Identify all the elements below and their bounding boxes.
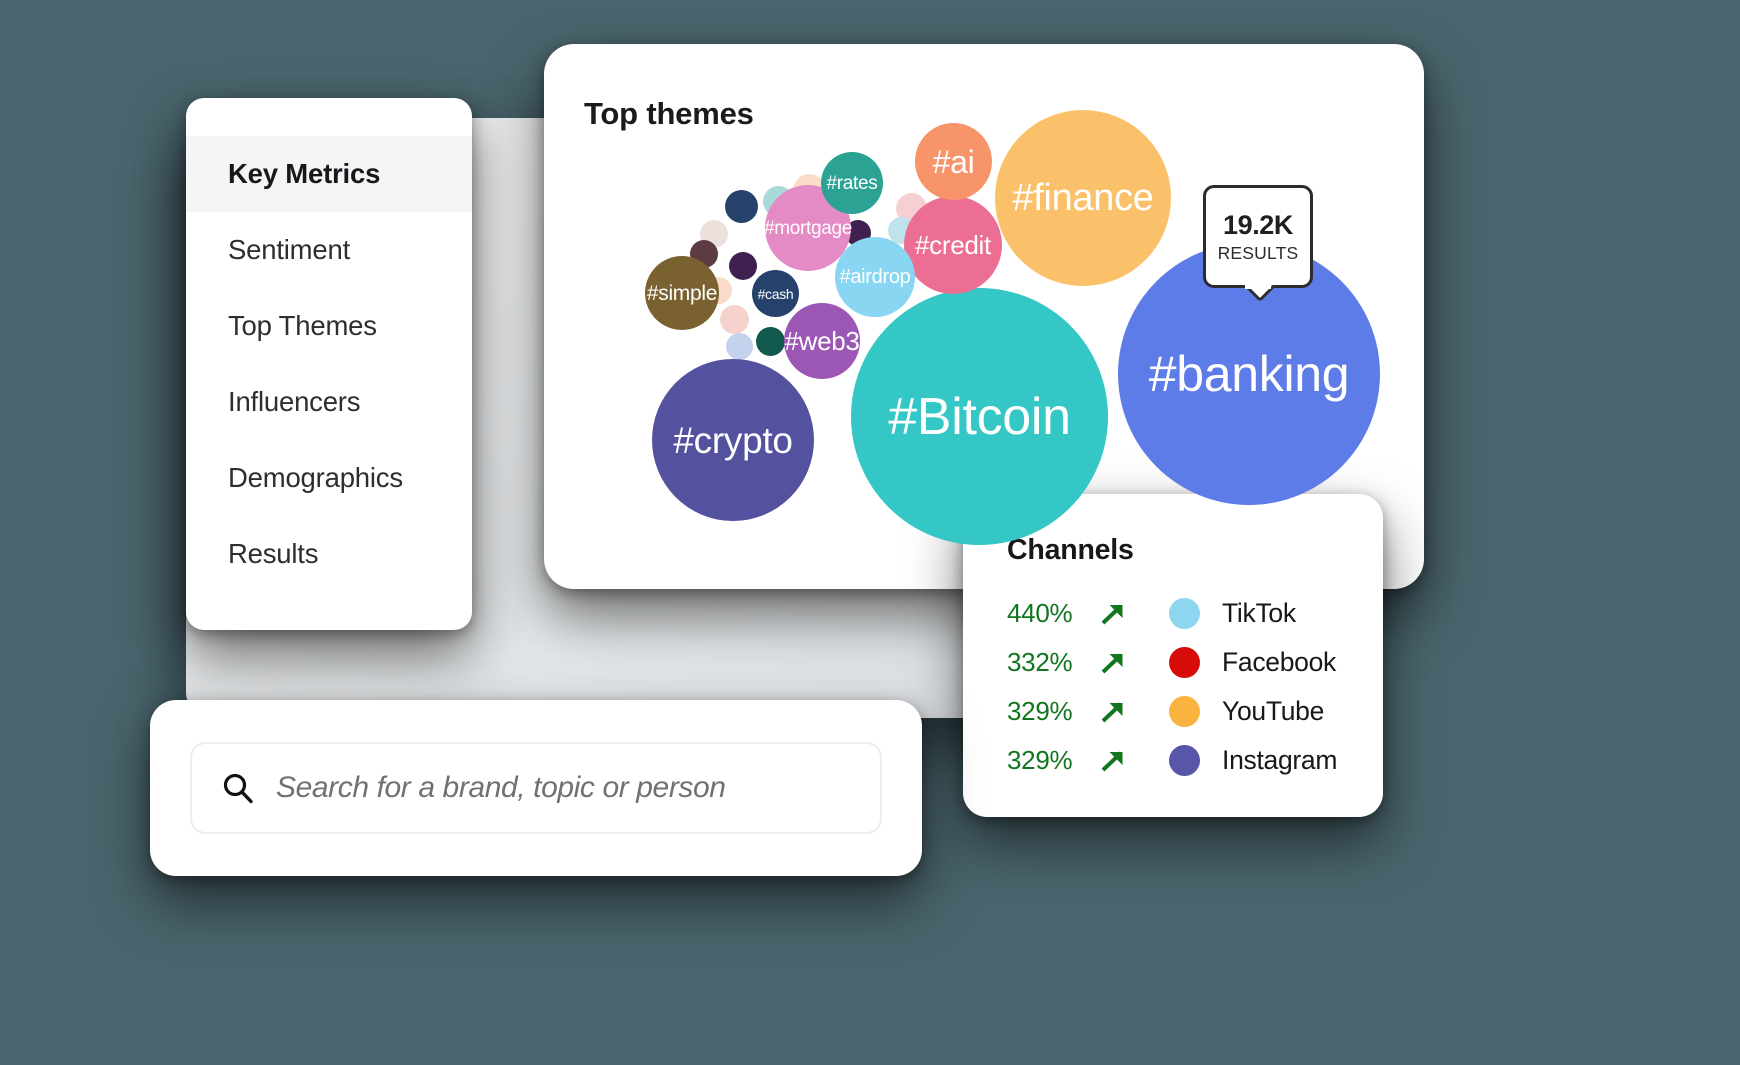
sidebar-item-label: Top Themes bbox=[228, 310, 377, 342]
bubble-label: #mortgage bbox=[764, 219, 852, 238]
sidebar-item-key-metrics[interactable]: Key Metrics bbox=[186, 136, 472, 212]
bubble-simple[interactable]: #simple bbox=[645, 256, 719, 330]
channels-title: Channels bbox=[1007, 534, 1383, 567]
bubble-label: #Bitcoin bbox=[888, 391, 1071, 443]
bubble-label: #ai bbox=[933, 146, 975, 178]
bubble-unlabeled[interactable] bbox=[720, 305, 749, 334]
bubble-crypto[interactable]: #crypto bbox=[652, 359, 814, 521]
arrow-up-right-icon bbox=[1099, 601, 1127, 627]
search-input[interactable]: Search for a brand, topic or person bbox=[190, 742, 882, 834]
sidebar-item-label: Influencers bbox=[228, 386, 360, 418]
search-placeholder: Search for a brand, topic or person bbox=[276, 771, 726, 805]
search-icon bbox=[220, 770, 256, 806]
sidebar-item-top-themes[interactable]: Top Themes bbox=[186, 288, 472, 364]
bubble-unlabeled[interactable] bbox=[756, 327, 785, 356]
bubble-web3[interactable]: #web3 bbox=[784, 303, 860, 379]
results-label: RESULTS bbox=[1218, 243, 1299, 264]
sidebar-item-label: Demographics bbox=[228, 462, 403, 494]
arrow-up-right-icon bbox=[1099, 748, 1127, 774]
sidebar-card: Key MetricsSentimentTop ThemesInfluencer… bbox=[186, 98, 472, 630]
bubble-airdrop[interactable]: #airdrop bbox=[835, 237, 915, 317]
channel-color-swatch bbox=[1169, 598, 1200, 629]
channel-color-swatch bbox=[1169, 647, 1200, 678]
bubble-label: #credit bbox=[915, 232, 991, 258]
channel-color-swatch bbox=[1169, 696, 1200, 727]
bubble-label: #airdrop bbox=[840, 267, 911, 287]
results-tooltip: 19.2K RESULTS bbox=[1203, 185, 1313, 288]
bubble-label: #crypto bbox=[673, 422, 792, 459]
channel-name: TikTok bbox=[1222, 598, 1296, 629]
channel-percent: 329% bbox=[1007, 745, 1099, 776]
channel-row[interactable]: 329%Instagram bbox=[1007, 736, 1383, 785]
bubble-unlabeled[interactable] bbox=[726, 333, 753, 360]
bubble-label: #web3 bbox=[784, 328, 859, 354]
sidebar-item-label: Results bbox=[228, 538, 318, 570]
sidebar-item-sentiment[interactable]: Sentiment bbox=[186, 212, 472, 288]
bubble-finance[interactable]: #finance bbox=[995, 110, 1171, 286]
results-value: 19.2K bbox=[1223, 210, 1293, 241]
bubble-label: #rates bbox=[826, 174, 877, 193]
sidebar-nav: Key MetricsSentimentTop ThemesInfluencer… bbox=[186, 136, 472, 592]
search-card: Search for a brand, topic or person bbox=[150, 700, 922, 876]
channels-list: 440%TikTok332%Facebook329%YouTube329%Ins… bbox=[1007, 589, 1383, 785]
bubble-label: #banking bbox=[1149, 349, 1350, 399]
bubble-rates[interactable]: #rates bbox=[821, 152, 883, 214]
channel-row[interactable]: 329%YouTube bbox=[1007, 687, 1383, 736]
channel-name: Instagram bbox=[1222, 745, 1337, 776]
bubble-label: #finance bbox=[1012, 179, 1153, 217]
bubble-label: #simple bbox=[647, 283, 717, 304]
channel-percent: 329% bbox=[1007, 696, 1099, 727]
bubble-ai[interactable]: #ai bbox=[915, 123, 992, 200]
bubble-Bitcoin[interactable]: #Bitcoin bbox=[851, 288, 1108, 545]
sidebar-item-label: Key Metrics bbox=[228, 158, 380, 190]
channel-percent: 440% bbox=[1007, 598, 1099, 629]
sidebar-item-influencers[interactable]: Influencers bbox=[186, 364, 472, 440]
arrow-up-right-icon bbox=[1099, 699, 1127, 725]
bubble-cash[interactable]: #cash bbox=[752, 270, 799, 317]
channel-name: Facebook bbox=[1222, 647, 1336, 678]
bubble-unlabeled[interactable] bbox=[725, 190, 758, 223]
channel-row[interactable]: 332%Facebook bbox=[1007, 638, 1383, 687]
bubble-label: #cash bbox=[758, 287, 794, 301]
channels-card: Channels 440%TikTok332%Facebook329%YouTu… bbox=[963, 494, 1383, 817]
arrow-up-right-icon bbox=[1099, 650, 1127, 676]
sidebar-item-label: Sentiment bbox=[228, 234, 350, 266]
channel-color-swatch bbox=[1169, 745, 1200, 776]
channel-name: YouTube bbox=[1222, 696, 1324, 727]
sidebar-item-results[interactable]: Results bbox=[186, 516, 472, 592]
bubble-credit[interactable]: #credit bbox=[904, 196, 1002, 294]
channel-percent: 332% bbox=[1007, 647, 1099, 678]
sidebar-item-demographics[interactable]: Demographics bbox=[186, 440, 472, 516]
bubble-unlabeled[interactable] bbox=[729, 252, 757, 280]
channel-row[interactable]: 440%TikTok bbox=[1007, 589, 1383, 638]
